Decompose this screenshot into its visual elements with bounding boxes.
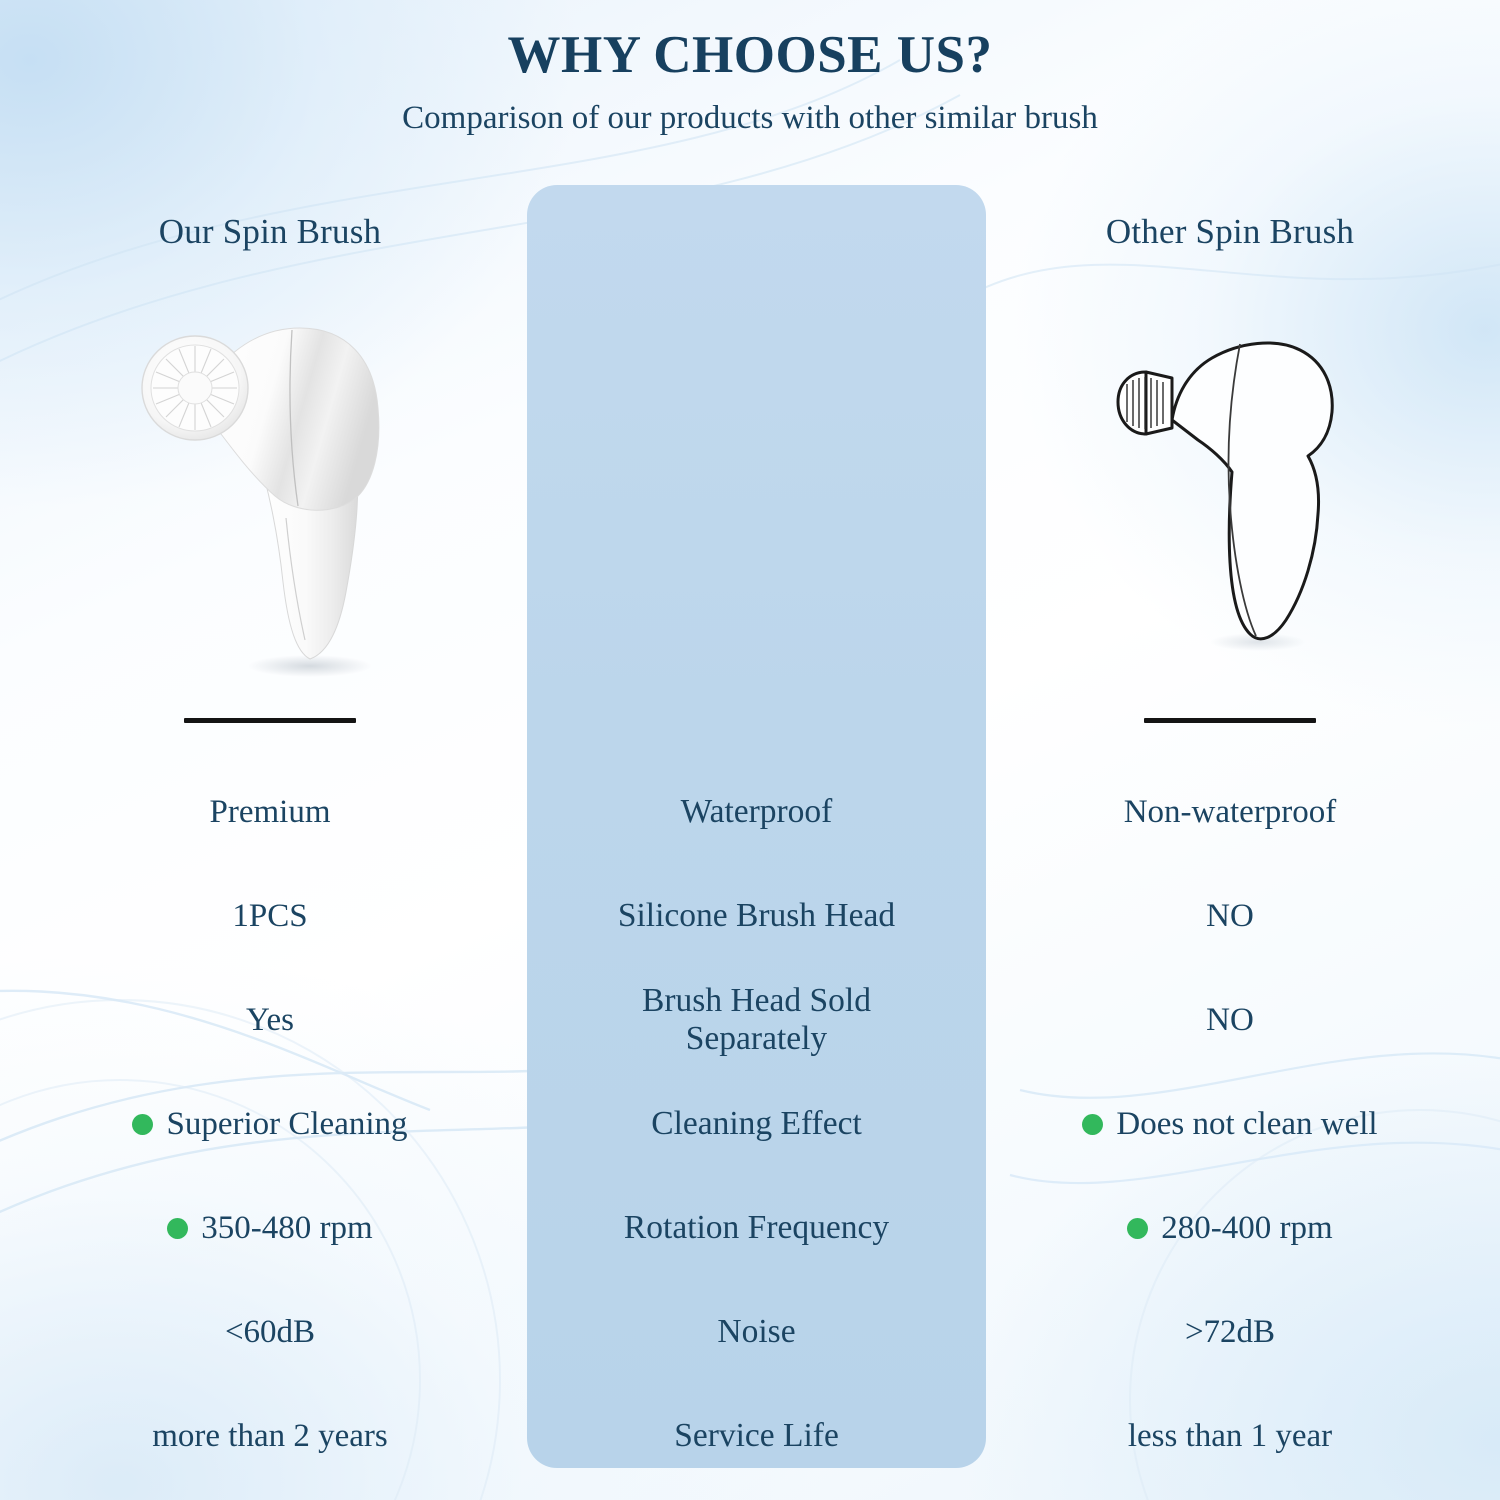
product-image-our-spin-brush xyxy=(35,300,505,690)
value-row-ours: 1PCS xyxy=(35,864,505,968)
divider-line-other xyxy=(1144,718,1316,723)
value-other-noise: >72dB xyxy=(1185,1315,1275,1350)
value-ours-waterproof: Premium xyxy=(210,795,331,830)
value-row-ours: more than 2 years xyxy=(35,1384,505,1488)
value-list-ours: Premium 1PCS Yes Superior Cleaning 350-4… xyxy=(35,760,505,1488)
value-row-ours: <60dB xyxy=(35,1280,505,1384)
divider-line-ours xyxy=(184,718,356,723)
value-ours-service-life: more than 2 years xyxy=(152,1419,388,1454)
value-other-rotation: 280-400 rpm xyxy=(1161,1211,1332,1246)
column-header-ours: Our Spin Brush xyxy=(35,212,505,252)
feature-row: Brush Head Sold Separately xyxy=(527,968,986,1072)
value-row-other: Non-waterproof xyxy=(995,760,1465,864)
value-other-brush-head: NO xyxy=(1206,899,1254,934)
value-row-ours: 350-480 rpm xyxy=(35,1176,505,1280)
feature-row: Rotation Frequency xyxy=(527,1176,986,1280)
bullet-dot-icon xyxy=(132,1114,153,1135)
feature-waterproof: Waterproof xyxy=(681,794,833,830)
bullet-dot-icon xyxy=(1082,1114,1103,1135)
value-other-sold-sep: NO xyxy=(1206,1003,1254,1038)
value-row-ours: Superior Cleaning xyxy=(35,1072,505,1176)
feature-noise: Noise xyxy=(717,1314,795,1350)
value-other-waterproof: Non-waterproof xyxy=(1124,795,1337,830)
value-ours-brush-head: 1PCS xyxy=(232,899,307,934)
value-row-other: NO xyxy=(995,968,1465,1072)
feature-row: Waterproof xyxy=(527,760,986,864)
feature-service-life: Service Life xyxy=(674,1418,839,1454)
feature-sold-separately: Brush Head Sold Separately xyxy=(592,982,922,1057)
value-row-other: 280-400 rpm xyxy=(995,1176,1465,1280)
value-row-ours: Premium xyxy=(35,760,505,864)
value-row-ours: Yes xyxy=(35,968,505,1072)
feature-row: Service Life xyxy=(527,1384,986,1488)
value-ours-noise: <60dB xyxy=(225,1315,315,1350)
feature-cleaning-effect: Cleaning Effect xyxy=(651,1106,862,1142)
column-other-spin-brush: Other Spin Brush xyxy=(995,0,1465,1500)
feature-row: Cleaning Effect xyxy=(527,1072,986,1176)
value-row-other: >72dB xyxy=(995,1280,1465,1384)
column-our-spin-brush: Our Spin Brush xyxy=(35,0,505,1500)
feature-row: Silicone Brush Head xyxy=(527,864,986,968)
value-ours-cleaning: Superior Cleaning xyxy=(166,1107,407,1142)
value-row-other: NO xyxy=(995,864,1465,968)
value-other-service-life: less than 1 year xyxy=(1128,1419,1332,1454)
feature-row: Noise xyxy=(527,1280,986,1384)
feature-list: Waterproof Silicone Brush Head Brush Hea… xyxy=(527,760,986,1488)
value-other-cleaning: Does not clean well xyxy=(1116,1107,1377,1142)
bullet-dot-icon xyxy=(1127,1218,1148,1239)
value-ours-rotation: 350-480 rpm xyxy=(201,1211,372,1246)
value-list-other: Non-waterproof NO NO Does not clean well… xyxy=(995,760,1465,1488)
value-ours-sold-sep: Yes xyxy=(246,1003,294,1038)
value-row-other: less than 1 year xyxy=(995,1384,1465,1488)
bullet-dot-icon xyxy=(167,1218,188,1239)
feature-rotation-freq: Rotation Frequency xyxy=(624,1210,889,1246)
product-image-other-spin-brush xyxy=(995,300,1465,690)
value-row-other: Does not clean well xyxy=(995,1072,1465,1176)
column-header-other: Other Spin Brush xyxy=(995,212,1465,252)
feature-brush-head: Silicone Brush Head xyxy=(618,898,895,934)
